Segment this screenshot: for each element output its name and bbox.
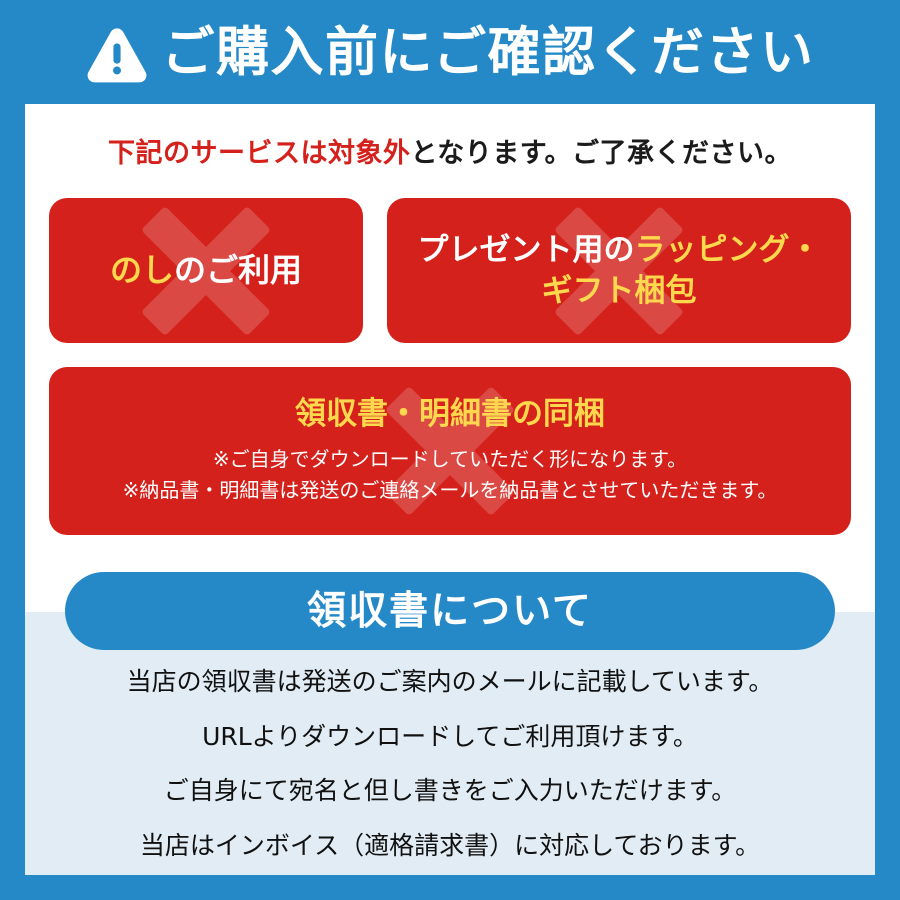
exclusions-panel: 下記のサービスは対象外となります。ご了承ください。 のしのご利用 プレゼント用 [25,104,875,612]
exclusion-card-wrapping-label: プレゼント用のラッピング・ ギフト梱包 [400,230,839,312]
wrapping-keyword-2: ギフト梱包 [542,273,697,309]
warning-triangle-icon [86,25,148,83]
wrapping-keyword-1: ラッピング・ [635,232,821,268]
receipt-info-line: URLよりダウンロードしてご利用頂けます。 [25,723,875,751]
exclusion-card-wrapping: プレゼント用のラッピング・ ギフト梱包 [387,198,851,343]
subtitle-highlight: 下記のサービスは対象外 [108,138,411,169]
purchase-notice-poster: ご購入前にご確認ください 下記のサービスは対象外となります。ご了承ください。 の… [0,0,900,900]
receipt-enclosure-note-1: ※ご自身でダウンロードしていただく形になります。 [213,444,687,475]
exclusion-card-receipt-enclosure: 領収書・明細書の同梱 ※ご自身でダウンロードしていただく形になります。 ※納品書… [49,367,851,535]
receipt-info-lines: 当店の領収書は発送のご案内のメールに記載しています。 URLよりダウンロードして… [25,668,875,859]
receipt-enclosure-note-2: ※納品書・明細書は発送のご連絡メールを納品書とさせていただきます。 [123,475,778,506]
receipt-info-line: 当店の領収書は発送のご案内のメールに記載しています。 [25,668,875,696]
page-title: ご購入前にご確認ください [162,26,815,79]
receipt-info-line: ご自身にて宛名と但し書きをご入力いただけます。 [25,777,875,805]
noshi-suffix: のご利用 [174,251,302,289]
header-banner: ご購入前にご確認ください [0,0,900,104]
wrapping-prefix: プレゼント用の [418,232,635,268]
exclusions-subtitle: 下記のサービスは対象外となります。ご了承ください。 [25,131,875,170]
subtitle-rest: となります。ご了承ください。 [411,138,793,169]
noshi-keyword: のし [110,251,174,289]
receipt-info-line: 当店はインボイス（適格請求書）に対応しております。 [25,832,875,860]
receipt-enclosure-title: 領収書・明細書の同梱 [295,396,605,433]
exclusion-card-noshi: のしのご利用 [49,198,363,343]
exclusion-card-noshi-label: のしのご利用 [110,249,302,291]
exclusion-cards-row: のしのご利用 プレゼント用のラッピング・ ギフト梱包 [49,198,851,343]
receipt-section-banner-label: 領収書について [307,592,593,631]
receipt-section-banner: 領収書について [65,572,835,650]
